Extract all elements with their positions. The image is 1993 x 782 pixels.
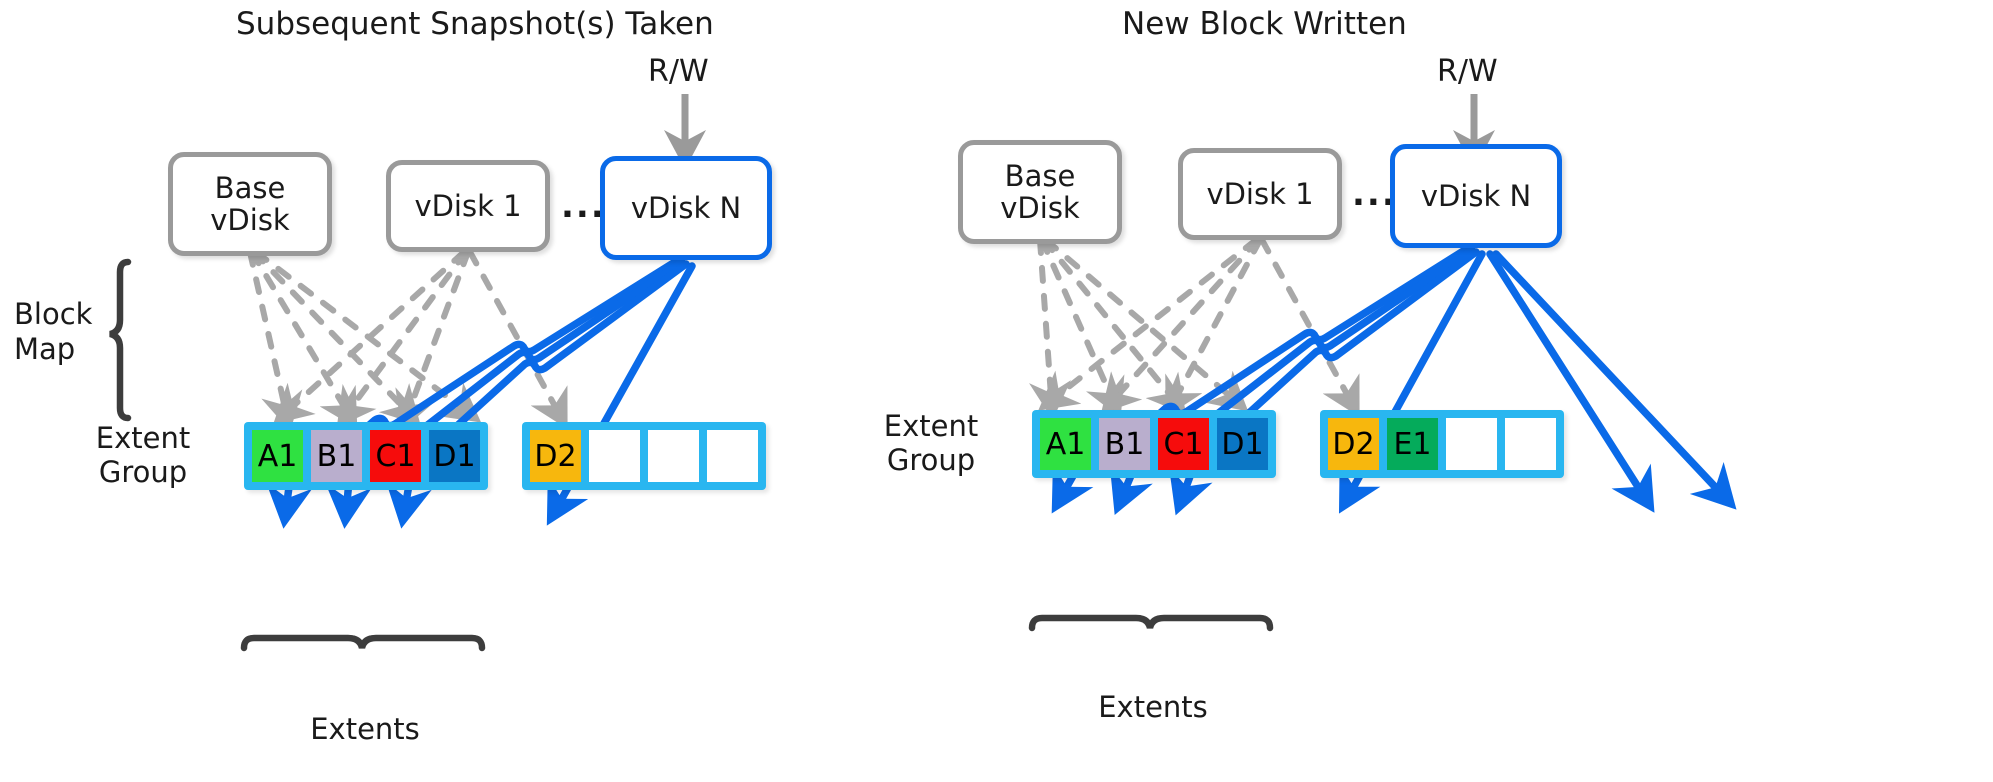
extent-group-1-left[interactable]: A1 B1 C1 D1: [244, 422, 488, 490]
extent-cell-label: D2: [534, 439, 576, 474]
extent-cell[interactable]: C1: [366, 426, 425, 486]
extent-cell[interactable]: A1: [1036, 414, 1095, 474]
extent-cell[interactable]: B1: [307, 426, 366, 486]
extent-cell-empty[interactable]: [703, 426, 762, 486]
vdisk-label-vn-right: vDisk N: [1421, 180, 1531, 212]
vdisk-label-v1-left: vDisk 1: [414, 190, 521, 222]
extent-group-label-right: ExtentGroup: [866, 409, 996, 477]
extent-group-2-left[interactable]: D2: [522, 422, 766, 490]
vdisk-box-base-left[interactable]: BasevDisk: [168, 152, 332, 256]
vdisk-label-base-right: BasevDisk: [1000, 160, 1079, 225]
extent-cell-label: D1: [1221, 427, 1263, 462]
extent-cell[interactable]: D1: [1213, 414, 1272, 474]
extent-cell-empty[interactable]: [1442, 414, 1501, 474]
left-extents-brace: [244, 638, 482, 648]
vdisk-box-vn-left[interactable]: vDisk N: [600, 156, 772, 260]
extent-cell-empty[interactable]: [1501, 414, 1560, 474]
vdisk-box-base-right[interactable]: BasevDisk: [958, 140, 1122, 244]
extents-label-right: Extents: [1088, 690, 1218, 724]
panel-title-right: New Block Written: [1122, 6, 1407, 42]
extent-cell[interactable]: E1: [1383, 414, 1442, 474]
extent-cell-label: D1: [433, 439, 475, 474]
extent-cell[interactable]: D2: [1324, 414, 1383, 474]
vdisk-box-v1-right[interactable]: vDisk 1: [1178, 148, 1342, 240]
extent-cell-label: A1: [258, 439, 298, 474]
right-extents-brace: [1032, 618, 1270, 628]
extent-group-2-right[interactable]: D2 E1: [1320, 410, 1564, 478]
block-map-label-left: BlockMap: [14, 297, 118, 367]
rw-label-right: R/W: [1437, 54, 1498, 89]
extent-cell-empty[interactable]: [644, 426, 703, 486]
extent-group-label-left: ExtentGroup: [78, 421, 208, 489]
left-basevdisk-dashed-connectors: [250, 252, 462, 408]
extents-label-left: Extents: [300, 712, 430, 746]
rw-label-left: R/W: [648, 54, 709, 89]
extent-cell-empty[interactable]: [585, 426, 644, 486]
diagram-canvas: Subsequent Snapshot(s) Taken R/W BasevDi…: [0, 0, 1993, 782]
extent-cell-label: C1: [375, 439, 415, 474]
connector-layer: [0, 0, 1993, 782]
extent-cell-label: A1: [1046, 427, 1086, 462]
vdisk-box-vn-right[interactable]: vDisk N: [1390, 144, 1562, 248]
extent-cell-label: D2: [1332, 427, 1374, 462]
vdisk-label-vn-left: vDisk N: [631, 192, 741, 224]
panel-title-left: Subsequent Snapshot(s) Taken: [236, 6, 714, 42]
extent-cell-label: B1: [1105, 427, 1145, 462]
extent-cell[interactable]: D2: [526, 426, 585, 486]
extent-cell-label: B1: [317, 439, 357, 474]
extent-cell[interactable]: A1: [248, 426, 307, 486]
extent-cell[interactable]: C1: [1154, 414, 1213, 474]
vdisk-box-v1-left[interactable]: vDisk 1: [386, 160, 550, 252]
vdisk-label-v1-right: vDisk 1: [1206, 178, 1313, 210]
extent-cell[interactable]: B1: [1095, 414, 1154, 474]
vdisk-label-base-left: BasevDisk: [210, 172, 289, 237]
extent-cell-label: C1: [1163, 427, 1203, 462]
extent-cell[interactable]: D1: [425, 426, 484, 486]
extent-group-1-right[interactable]: A1 B1 C1 D1: [1032, 410, 1276, 478]
extent-cell-label: E1: [1393, 427, 1431, 462]
